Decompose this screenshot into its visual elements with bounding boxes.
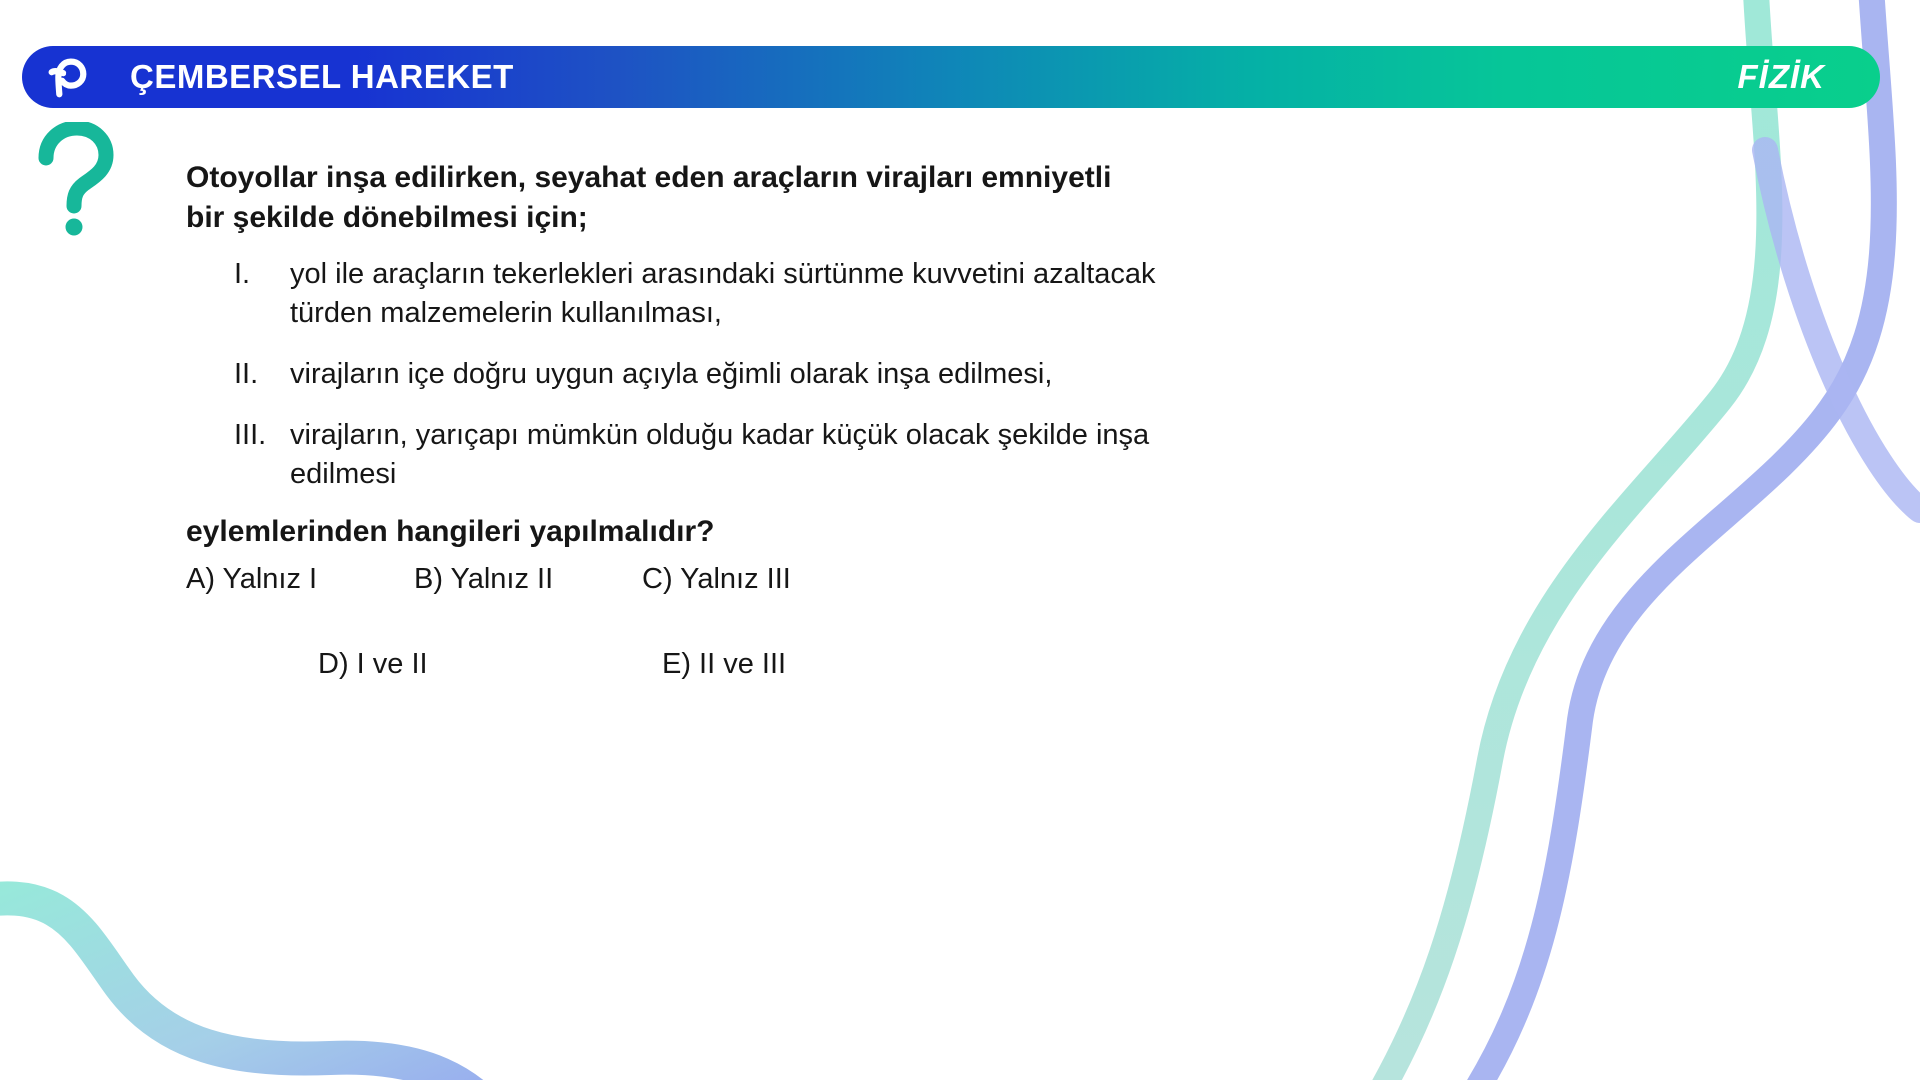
list-item: I. yol ile araçların tekerlekleri arasın… <box>186 255 1366 333</box>
swirl-top-right-mint <box>1370 0 1769 1080</box>
choices-row-secondary: D) I ve II E) II ve III <box>186 648 1366 681</box>
question-mark-icon <box>36 122 114 238</box>
choice-option-c[interactable]: C) Yalnız III <box>642 563 870 596</box>
page-title: ÇEMBERSEL HAREKET <box>130 58 514 96</box>
list-item: III. virajların, yarıçapı mümkün olduğu … <box>186 416 1366 494</box>
choice-option-a[interactable]: A) Yalnız I <box>186 563 414 596</box>
choice-option-b[interactable]: B) Yalnız II <box>414 563 642 596</box>
list-item: II. virajların içe doğru uygun açıyla eğ… <box>186 355 1366 394</box>
question-slide: ÇEMBERSEL HAREKET FİZİK Otoyollar inşa e… <box>0 0 1920 1080</box>
roman-item-text: yol ile araçların tekerlekleri arasındak… <box>290 255 1190 333</box>
p-brand-logo-icon <box>44 54 90 100</box>
subject-badge: FİZİK <box>1738 58 1825 96</box>
choices-row-primary: A) Yalnız I B) Yalnız II C) Yalnız III <box>186 563 1366 596</box>
choice-option-d[interactable]: D) I ve II <box>318 648 662 681</box>
swirl-right-arc <box>1765 150 1920 510</box>
choice-option-e[interactable]: E) II ve III <box>662 648 962 681</box>
roman-numeral: I. <box>234 255 290 294</box>
question-content: Otoyollar inşa edilirken, seyahat eden a… <box>186 158 1366 681</box>
header-bar: ÇEMBERSEL HAREKET FİZİK <box>22 46 1880 108</box>
roman-numeral-list: I. yol ile araçların tekerlekleri arasın… <box>186 255 1366 493</box>
question-intro: Otoyollar inşa edilirken, seyahat eden a… <box>186 158 1116 237</box>
swirl-top-right-periwinkle <box>1470 0 1884 1080</box>
roman-item-text: virajların, yarıçapı mümkün olduğu kadar… <box>290 416 1190 494</box>
question-prompt: eylemlerinden hangileri yapılmalıdır? <box>186 515 1366 549</box>
roman-numeral: II. <box>234 355 290 394</box>
roman-item-text: virajların içe doğru uygun açıyla eğimli… <box>290 355 1190 394</box>
swirl-bottom-left <box>0 898 500 1080</box>
roman-numeral: III. <box>234 416 290 455</box>
